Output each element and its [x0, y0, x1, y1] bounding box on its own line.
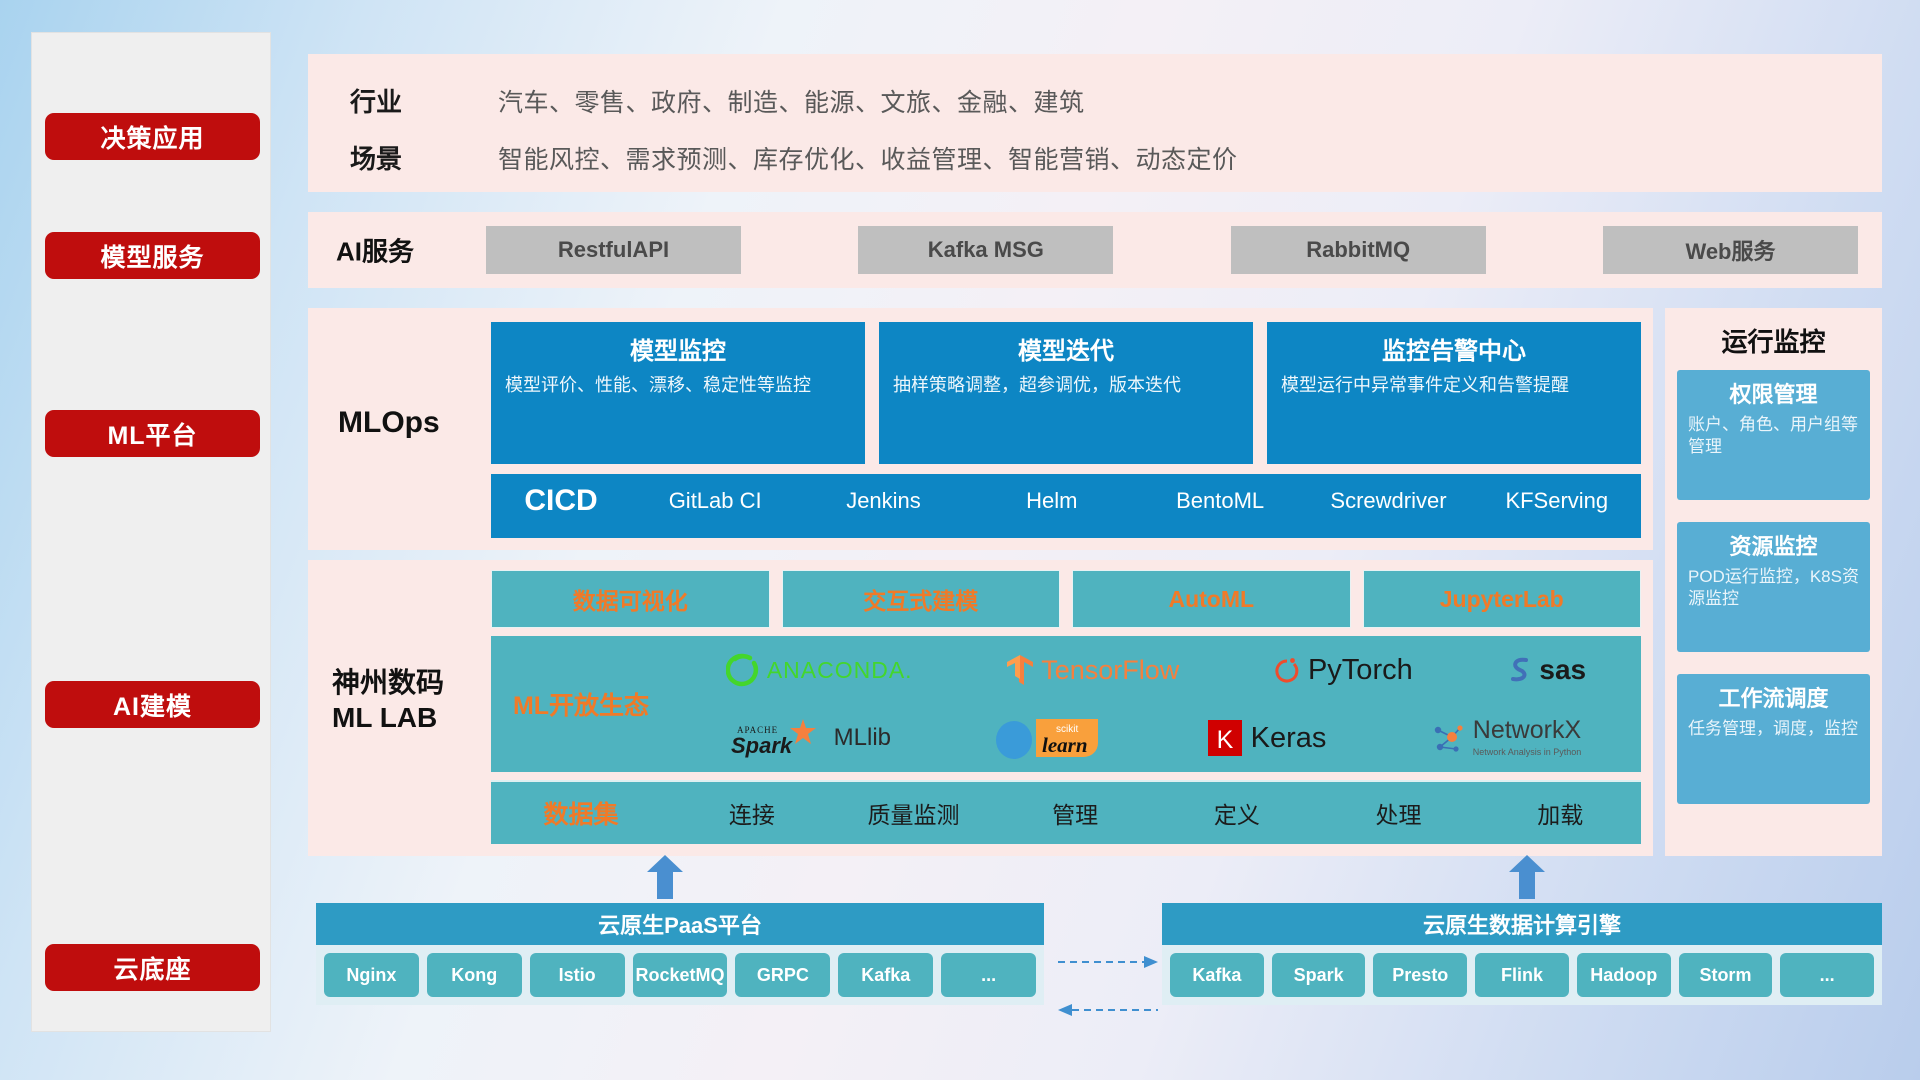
- ml-lab-band: 神州数码 ML LAB 数据可视化 交互式建模 AutoML JupyterLa…: [308, 560, 1653, 856]
- cloud-chip-istio[interactable]: Istio: [530, 953, 625, 997]
- rail-label: ML平台: [107, 416, 197, 452]
- cicd-item-gitlab-ci[interactable]: GitLab CI: [631, 474, 799, 513]
- networkx-label: NetworkX: [1473, 716, 1581, 744]
- cicd-item-bentoml[interactable]: BentoML: [1136, 474, 1304, 513]
- anaconda-icon: [726, 653, 760, 687]
- cicd-title: CICD: [491, 474, 631, 518]
- card-desc: 任务管理，调度，监控: [1688, 718, 1859, 740]
- keras-logo: K Keras: [1206, 718, 1327, 758]
- card-title: 模型迭代: [893, 331, 1239, 366]
- ml-ecosystem-panel: ML开放生态 ANACONDA.: [491, 636, 1641, 772]
- cicd-item-jenkins[interactable]: Jenkins: [799, 474, 967, 513]
- tensorflow-icon: [1006, 654, 1034, 686]
- mlops-label: MLOps: [338, 406, 440, 440]
- ai-service-label: AI服务: [336, 232, 414, 269]
- engine-chip-more[interactable]: ...: [1780, 953, 1874, 997]
- cloud-engine-title: 云原生数据计算引擎: [1162, 903, 1882, 945]
- engine-chip-storm[interactable]: Storm: [1679, 953, 1773, 997]
- svg-text:learn: learn: [1042, 733, 1088, 757]
- anaconda-logo: ANACONDA.: [726, 653, 913, 687]
- dashed-arrow-right: [1058, 955, 1158, 969]
- cloud-paas-chip-list: Nginx Kong Istio RocketMQ GRPC Kafka ...: [316, 945, 1044, 1005]
- arrow-up-engine: [1508, 855, 1546, 899]
- ml-lab-tool-automl[interactable]: AutoML: [1072, 570, 1351, 628]
- dataset-item-load[interactable]: 加载: [1479, 796, 1641, 830]
- ml-ecosystem-logo-row-2: APACHE Spark MLlib scikit learn: [671, 704, 1641, 772]
- card-desc: 账户、角色、用户组等管理: [1688, 414, 1859, 458]
- cicd-item-screwdriver[interactable]: Screwdriver: [1304, 474, 1472, 513]
- layer-rail: 决策应用 模型服务 ML平台 AI建模 云底座: [31, 32, 271, 1032]
- rail-label: 模型服务: [100, 238, 204, 274]
- decision-app-band: 行业 汽车、零售、政府、制造、能源、文旅、金融、建筑 场景 智能风控、需求预测、…: [308, 54, 1882, 192]
- scikit-learn-logo: scikit learn: [994, 715, 1102, 761]
- ml-lab-tool-list: 数据可视化 交互式建模 AutoML JupyterLab: [491, 570, 1641, 628]
- scenario-row-value: 智能风控、需求预测、库存优化、收益管理、智能营销、动态定价: [498, 140, 1238, 176]
- mllib-label: MLlib: [834, 724, 891, 752]
- sas-logo: sas: [1506, 654, 1586, 686]
- pytorch-label: PyTorch: [1308, 654, 1413, 687]
- monitoring-card-workflow[interactable]: 工作流调度 任务管理，调度，监控: [1677, 674, 1870, 804]
- ai-service-chip-web-service[interactable]: Web服务: [1603, 226, 1858, 274]
- ml-lab-label: 神州数码 ML LAB: [332, 665, 444, 735]
- ml-lab-tool-data-visualization[interactable]: 数据可视化: [491, 570, 770, 628]
- card-desc: 模型运行中异常事件定义和告警提醒: [1281, 374, 1627, 398]
- card-title: 监控告警中心: [1281, 331, 1627, 366]
- anaconda-label: ANACONDA.: [767, 657, 913, 684]
- ml-lab-label-line1: 神州数码: [332, 665, 444, 700]
- spark-mllib-logo: APACHE Spark MLlib: [731, 717, 891, 759]
- ml-ecosystem-logo-row-1: ANACONDA. TensorFlow: [671, 636, 1641, 704]
- cloud-paas-block: 云原生PaaS平台 Nginx Kong Istio RocketMQ GRPC…: [316, 903, 1044, 1005]
- cicd-row: CICD GitLab CI Jenkins Helm BentoML Scre…: [491, 474, 1641, 538]
- cicd-item-kfserving[interactable]: KFServing: [1473, 474, 1641, 513]
- ml-ecosystem-logo-grid: ANACONDA. TensorFlow: [671, 636, 1641, 772]
- sas-label: sas: [1539, 654, 1586, 686]
- engine-chip-kafka[interactable]: Kafka: [1170, 953, 1264, 997]
- engine-chip-hadoop[interactable]: Hadoop: [1577, 953, 1671, 997]
- cloud-engine-block: 云原生数据计算引擎 Kafka Spark Presto Flink Hadoo…: [1162, 903, 1882, 1005]
- ml-ecosystem-title: ML开放生态: [491, 686, 671, 722]
- arrow-up-paas: [646, 855, 684, 899]
- cloud-chip-nginx[interactable]: Nginx: [324, 953, 419, 997]
- spark-icon: APACHE Spark: [731, 717, 827, 759]
- monitoring-card-permission[interactable]: 权限管理 账户、角色、用户组等管理: [1677, 370, 1870, 500]
- rail-label: 决策应用: [100, 119, 204, 155]
- rail-label: 云底座: [113, 950, 191, 986]
- ai-service-band: AI服务 RestfulAPI Kafka MSG RabbitMQ Web服务: [308, 212, 1882, 288]
- tensorflow-label: TensorFlow: [1041, 655, 1179, 686]
- rail-label: AI建模: [113, 687, 192, 723]
- card-desc: 抽样策略调整，超参调优，版本迭代: [893, 374, 1239, 398]
- card-desc: POD运行监控，K8S资源监控: [1688, 566, 1859, 610]
- dataset-item-quality[interactable]: 质量监测: [833, 796, 995, 830]
- dataset-item-connect[interactable]: 连接: [671, 796, 833, 830]
- scikit-learn-icon: scikit learn: [994, 715, 1102, 761]
- dashed-arrow-left-icon: [1058, 1003, 1158, 1017]
- mlops-card-list: 模型监控 模型评价、性能、漂移、稳定性等监控 模型迭代 抽样策略调整，超参调优，…: [491, 322, 1641, 464]
- cloud-chip-kafka[interactable]: Kafka: [838, 953, 933, 997]
- architecture-diagram: 决策应用 模型服务 ML平台 AI建模 云底座 行业 汽车、零售、政府、制造、能…: [0, 0, 1920, 1080]
- svg-text:K: K: [1216, 726, 1233, 754]
- sas-icon: [1506, 655, 1532, 685]
- networkx-sublabel: Network Analysis in Python: [1473, 747, 1582, 757]
- ml-lab-tool-interactive-modeling[interactable]: 交互式建模: [782, 570, 1061, 628]
- cloud-engine-chip-list: Kafka Spark Presto Flink Hadoop Storm ..…: [1162, 945, 1882, 1005]
- cloud-chip-more[interactable]: ...: [941, 953, 1036, 997]
- dataset-item-define[interactable]: 定义: [1156, 796, 1318, 830]
- ml-lab-tool-jupyterlab[interactable]: JupyterLab: [1363, 570, 1642, 628]
- card-title: 模型监控: [505, 331, 851, 366]
- engine-chip-flink[interactable]: Flink: [1475, 953, 1569, 997]
- pytorch-icon: [1273, 654, 1301, 686]
- engine-chip-spark[interactable]: Spark: [1272, 953, 1366, 997]
- monitoring-card-resource[interactable]: 资源监控 POD运行监控，K8S资源监控: [1677, 522, 1870, 652]
- dataset-title: 数据集: [491, 795, 671, 831]
- runtime-monitoring-band: 运行监控 权限管理 账户、角色、用户组等管理 资源监控 POD运行监控，K8S资…: [1665, 308, 1882, 856]
- ml-lab-label-line2: ML LAB: [332, 700, 444, 735]
- mlops-card-model-iteration[interactable]: 模型迭代 抽样策略调整，超参调优，版本迭代: [879, 322, 1253, 464]
- dataset-item-process[interactable]: 处理: [1318, 796, 1480, 830]
- card-desc: 模型评价、性能、漂移、稳定性等监控: [505, 374, 851, 398]
- networkx-logo: NetworkX Network Analysis in Python: [1430, 718, 1582, 759]
- keras-label: Keras: [1251, 722, 1327, 755]
- pytorch-logo: PyTorch: [1273, 654, 1413, 687]
- cloud-chip-rocketmq[interactable]: RocketMQ: [633, 953, 728, 997]
- networkx-icon: [1430, 720, 1466, 756]
- runtime-monitoring-title: 运行监控: [1665, 322, 1882, 359]
- dataset-item-manage[interactable]: 管理: [994, 796, 1156, 830]
- scenario-row-label: 场景: [350, 139, 450, 176]
- rail-item-cloud-base[interactable]: 云底座: [45, 944, 260, 991]
- dataset-row: 数据集 连接 质量监测 管理 定义 处理 加载: [491, 780, 1641, 844]
- tensorflow-logo: TensorFlow: [1006, 654, 1179, 686]
- keras-icon: K: [1206, 718, 1244, 758]
- cloud-chip-kong[interactable]: Kong: [427, 953, 522, 997]
- ai-service-chip-list: RestfulAPI Kafka MSG RabbitMQ Web服务: [486, 226, 1858, 274]
- dashed-arrow-right-icon: [1058, 955, 1158, 969]
- dashed-arrow-left: [1058, 1003, 1158, 1017]
- mlops-card-alert-center[interactable]: 监控告警中心 模型运行中异常事件定义和告警提醒: [1267, 322, 1641, 464]
- rail-item-ai-modeling[interactable]: AI建模: [45, 681, 260, 728]
- rail-item-decision-app[interactable]: 决策应用: [45, 113, 260, 160]
- mlops-card-model-monitoring[interactable]: 模型监控 模型评价、性能、漂移、稳定性等监控: [491, 322, 865, 464]
- industry-row-value: 汽车、零售、政府、制造、能源、文旅、金融、建筑: [498, 83, 1085, 119]
- networkx-wordmark: NetworkX Network Analysis in Python: [1473, 718, 1582, 759]
- svg-text:Spark: Spark: [731, 733, 794, 758]
- engine-chip-presto[interactable]: Presto: [1373, 953, 1467, 997]
- ai-service-chip-restfulapi[interactable]: RestfulAPI: [486, 226, 741, 274]
- card-title: 工作流调度: [1688, 681, 1859, 713]
- industry-row-label: 行业: [350, 82, 450, 119]
- arrow-up-icon: [1508, 855, 1546, 899]
- ai-service-chip-rabbitmq[interactable]: RabbitMQ: [1231, 226, 1486, 274]
- card-title: 资源监控: [1688, 529, 1859, 561]
- rail-item-model-service[interactable]: 模型服务: [45, 232, 260, 279]
- mlops-band: MLOps 模型监控 模型评价、性能、漂移、稳定性等监控 模型迭代 抽样策略调整…: [308, 308, 1653, 550]
- cloud-paas-title: 云原生PaaS平台: [316, 903, 1044, 945]
- cicd-item-helm[interactable]: Helm: [968, 474, 1136, 513]
- ai-service-chip-kafka-msg[interactable]: Kafka MSG: [858, 226, 1113, 274]
- rail-item-ml-platform[interactable]: ML平台: [45, 410, 260, 457]
- cloud-chip-grpc[interactable]: GRPC: [735, 953, 830, 997]
- card-title: 权限管理: [1688, 377, 1859, 409]
- arrow-up-icon: [646, 855, 684, 899]
